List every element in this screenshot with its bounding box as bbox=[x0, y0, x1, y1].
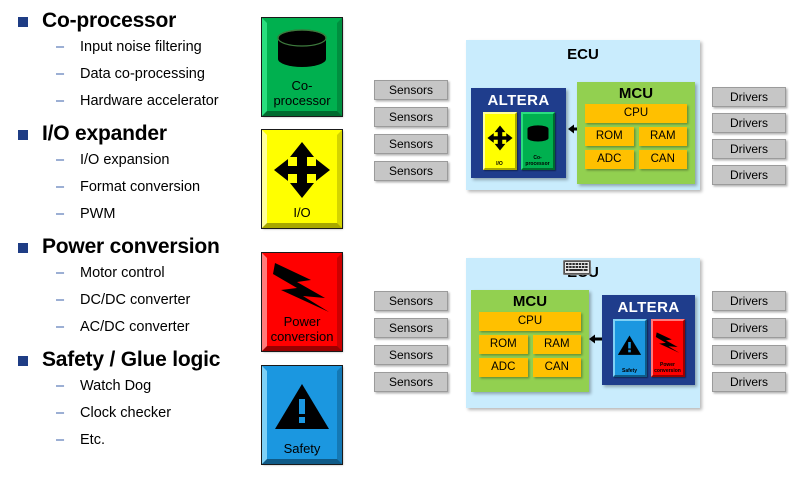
sensor-pill[interactable]: Sensors bbox=[374, 107, 448, 127]
icon-card-co-processor[interactable]: Co- processor bbox=[262, 18, 342, 116]
bullet-sub-label: Watch Dog bbox=[80, 378, 151, 394]
driver-pill[interactable]: Drivers bbox=[712, 372, 786, 392]
bullet-square-icon bbox=[18, 356, 28, 366]
bullet-sub-item: – AC/DC converter bbox=[0, 314, 258, 341]
bullet-square-icon bbox=[18, 243, 28, 253]
bullet-heading: Co-processor bbox=[0, 8, 258, 34]
mcu-cell-adc[interactable]: ADC bbox=[585, 150, 634, 169]
mcu-cell-ram[interactable]: RAM bbox=[533, 335, 582, 354]
bullet-sub-item: – I/O expansion bbox=[0, 147, 258, 174]
mcu-cell-rom[interactable]: ROM bbox=[585, 127, 634, 146]
bullet-sub-item: – Hardware accelerator bbox=[0, 88, 258, 115]
mcu-label: MCU bbox=[577, 82, 695, 102]
bullet-sub-item: – Etc. bbox=[0, 427, 258, 454]
icon-card-caption: Safety bbox=[267, 441, 337, 459]
warning-triangle-icon bbox=[615, 321, 645, 368]
dash-icon: – bbox=[56, 174, 64, 201]
mcu-cell-can[interactable]: CAN bbox=[639, 150, 688, 169]
four-way-arrow-icon bbox=[485, 114, 515, 161]
mini-card-power-conversion[interactable]: Power conversion bbox=[651, 319, 685, 377]
icon-card-caption: Co- processor bbox=[267, 78, 337, 111]
mcu-cell-cpu[interactable]: CPU bbox=[479, 312, 581, 331]
mcu-cell-rom[interactable]: ROM bbox=[479, 335, 528, 354]
mcu-row: ROM RAM bbox=[585, 127, 687, 150]
driver-pill[interactable]: Drivers bbox=[712, 291, 786, 311]
lightning-bolt-icon bbox=[653, 321, 683, 362]
altera-block-bottom[interactable]: ALTERA Safety Power conversion bbox=[602, 295, 695, 385]
feature-bullet-list: Co-processor – Input noise filtering – D… bbox=[0, 0, 258, 490]
dash-icon: – bbox=[56, 201, 64, 228]
mcu-cell-ram[interactable]: RAM bbox=[639, 127, 688, 146]
driver-pill[interactable]: Drivers bbox=[712, 139, 786, 159]
mini-card-safety[interactable]: Safety bbox=[613, 319, 647, 377]
sensor-pill[interactable]: Sensors bbox=[374, 345, 448, 365]
bullet-sub-label: AC/DC converter bbox=[80, 319, 190, 335]
ecu-title: ECU bbox=[466, 46, 700, 63]
cylinder-icon bbox=[523, 114, 553, 155]
bullet-sub-label: Motor control bbox=[80, 265, 165, 281]
mini-card-co-processor[interactable]: Co- processor bbox=[521, 112, 555, 170]
bullet-sub-item: – PWM bbox=[0, 201, 258, 228]
bullet-square-icon bbox=[18, 130, 28, 140]
bullet-sub-label: Etc. bbox=[80, 432, 105, 448]
bullet-heading-label: Co-processor bbox=[42, 9, 176, 32]
bullet-sub-label: Clock checker bbox=[80, 405, 171, 421]
icon-card-caption: I/O bbox=[267, 205, 337, 223]
mcu-cell-adc[interactable]: ADC bbox=[479, 358, 528, 377]
sensor-pill[interactable]: Sensors bbox=[374, 161, 448, 181]
sensor-pill[interactable]: Sensors bbox=[374, 372, 448, 392]
altera-inner: Safety Power conversion bbox=[602, 316, 695, 385]
bullet-sub-label: Format conversion bbox=[80, 179, 200, 195]
altera-label: ALTERA bbox=[487, 92, 549, 109]
bullet-heading-label: Safety / Glue logic bbox=[42, 348, 220, 371]
driver-pill[interactable]: Drivers bbox=[712, 318, 786, 338]
warning-triangle-icon bbox=[267, 371, 337, 441]
bullet-sub-label: I/O expansion bbox=[80, 152, 169, 168]
icon-card-io[interactable]: I/O bbox=[262, 130, 342, 228]
mcu-block-top[interactable]: MCU CPU ROM RAM ADC CAN bbox=[577, 82, 695, 184]
driver-pill[interactable]: Drivers bbox=[712, 165, 786, 185]
bullet-sub-label: Input noise filtering bbox=[80, 39, 202, 55]
cylinder-icon bbox=[267, 23, 337, 78]
bullet-sub-label: PWM bbox=[80, 206, 115, 222]
mini-card-caption: Power conversion bbox=[653, 362, 683, 375]
driver-pill[interactable]: Drivers bbox=[712, 87, 786, 107]
mcu-row: ROM RAM bbox=[479, 335, 581, 358]
bullet-heading-label: I/O expander bbox=[42, 122, 167, 145]
altera-label: ALTERA bbox=[617, 299, 679, 316]
bullet-sub-label: Data co-processing bbox=[80, 66, 205, 82]
driver-pill[interactable]: Drivers bbox=[712, 345, 786, 365]
bullet-heading: I/O expander bbox=[0, 121, 258, 147]
bullet-group-safety-glue-logic: Safety / Glue logic – Watch Dog – Clock … bbox=[0, 347, 258, 454]
dash-icon: – bbox=[56, 61, 64, 88]
mini-card-caption: I/O bbox=[485, 161, 515, 168]
bullet-sub-item: – Data co-processing bbox=[0, 61, 258, 88]
bullet-sub-item: – Watch Dog bbox=[0, 373, 258, 400]
altera-block-top[interactable]: ALTERA I/O Co- processor bbox=[471, 88, 566, 178]
bullet-heading-label: Power conversion bbox=[42, 235, 220, 258]
sensor-pill[interactable]: Sensors bbox=[374, 318, 448, 338]
sensor-pill[interactable]: Sensors bbox=[374, 134, 448, 154]
mini-card-caption: Co- processor bbox=[523, 155, 553, 168]
lightning-bolt-icon bbox=[267, 258, 337, 314]
dash-icon: – bbox=[56, 34, 64, 61]
dash-icon: – bbox=[56, 147, 64, 174]
bullet-heading: Power conversion bbox=[0, 234, 258, 260]
mini-card-caption: Safety bbox=[615, 368, 645, 375]
bullet-heading: Safety / Glue logic bbox=[0, 347, 258, 373]
keyboard-icon[interactable] bbox=[562, 256, 592, 278]
mcu-grid: CPU ROM RAM ADC CAN bbox=[471, 310, 589, 387]
sensor-pill[interactable]: Sensors bbox=[374, 291, 448, 311]
dash-icon: – bbox=[56, 400, 64, 427]
driver-pill[interactable]: Drivers bbox=[712, 113, 786, 133]
bullet-group-co-processor: Co-processor – Input noise filtering – D… bbox=[0, 8, 258, 115]
dash-icon: – bbox=[56, 314, 64, 341]
bullet-sub-item: – Format conversion bbox=[0, 174, 258, 201]
mcu-label: MCU bbox=[471, 290, 589, 310]
mcu-block-bottom[interactable]: MCU CPU ROM RAM ADC CAN bbox=[471, 290, 589, 392]
bullet-sub-item: – Clock checker bbox=[0, 400, 258, 427]
dash-icon: – bbox=[56, 287, 64, 314]
bullet-square-icon bbox=[18, 17, 28, 27]
sensor-pill[interactable]: Sensors bbox=[374, 80, 448, 100]
mini-card-io[interactable]: I/O bbox=[483, 112, 517, 170]
four-way-arrow-icon bbox=[267, 135, 337, 205]
bullet-sub-label: Hardware accelerator bbox=[80, 93, 219, 109]
dash-icon: – bbox=[56, 88, 64, 115]
bullet-group-io-expander: I/O expander – I/O expansion – Format co… bbox=[0, 121, 258, 228]
mcu-row: ADC CAN bbox=[479, 358, 581, 381]
dash-icon: – bbox=[56, 427, 64, 454]
bullet-sub-item: – DC/DC converter bbox=[0, 287, 258, 314]
mcu-cell-can[interactable]: CAN bbox=[533, 358, 582, 377]
bullet-sub-item: – Motor control bbox=[0, 260, 258, 287]
icon-card-caption: Power conversion bbox=[267, 314, 337, 347]
icon-card-safety[interactable]: Safety bbox=[262, 366, 342, 464]
bullet-sub-label: DC/DC converter bbox=[80, 292, 190, 308]
dash-icon: – bbox=[56, 373, 64, 400]
dash-icon: – bbox=[56, 260, 64, 287]
altera-inner: I/O Co- processor bbox=[471, 109, 566, 178]
icon-card-power-conversion[interactable]: Power conversion bbox=[262, 253, 342, 351]
bullet-sub-item: – Input noise filtering bbox=[0, 34, 258, 61]
mcu-cell-cpu[interactable]: CPU bbox=[585, 104, 687, 123]
mcu-row: ADC CAN bbox=[585, 150, 687, 173]
mcu-grid: CPU ROM RAM ADC CAN bbox=[577, 102, 695, 179]
bullet-group-power-conversion: Power conversion – Motor control – DC/DC… bbox=[0, 234, 258, 341]
